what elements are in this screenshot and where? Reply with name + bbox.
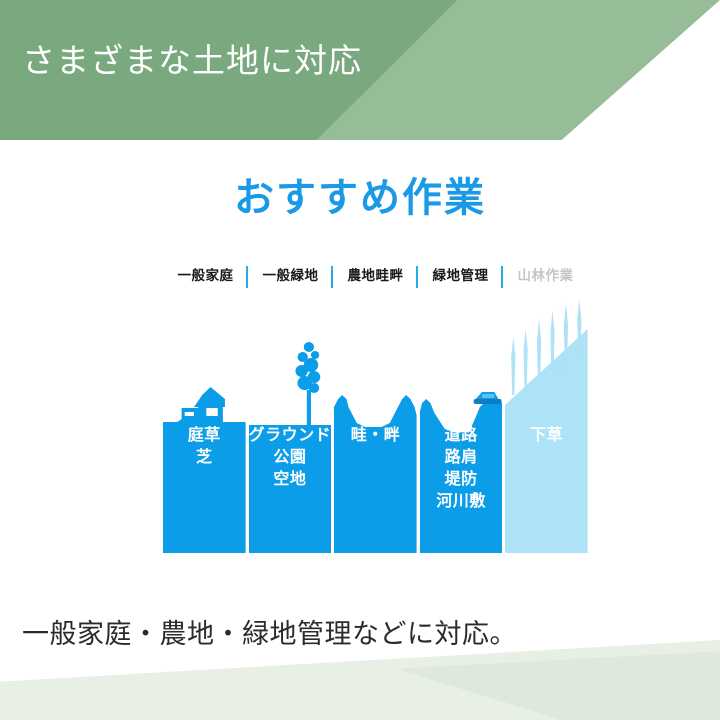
chart-column-greenspace-management: 道路 路肩 堤防 河川敷 [420,295,503,553]
column-header-farmland-ridge: 農地畦畔 [333,265,418,295]
recommended-work-chart: 一般家庭 一般緑地 農地畦畔 緑地管理 山林作業 [163,265,588,557]
column-header-label: 緑地管理 [433,268,489,283]
chart-column-farmland-ridge: 畦・畔 [334,295,417,553]
chart-column-forestry-work: 下草 [505,295,588,553]
column-header-greenspace-management: 緑地管理 [418,265,503,295]
tree-icon [249,295,332,553]
label-line: 河川敷 [420,491,503,513]
label-line: 庭草 [163,425,246,447]
label-line: 芝 [163,447,246,469]
footer-decor [0,640,720,720]
column-label-general-household: 庭草 芝 [163,425,246,469]
forest-icon [505,295,588,553]
column-header-general-household: 一般家庭 [163,265,248,295]
column-header-label: 山林作業 [518,268,574,283]
chart-title: おすすめ作業 [0,165,720,223]
column-label-forestry-work: 下草 [505,425,588,447]
column-label-farmland-ridge: 畦・畔 [334,425,417,447]
house-icon [163,295,246,553]
label-line: 空地 [249,469,332,491]
label-line: 堤防 [420,469,503,491]
header-banner: さまざまな土地に対応 [0,0,720,140]
column-header-label: 一般緑地 [263,268,319,283]
column-header-general-greenspace: 一般緑地 [248,265,333,295]
chart-columns: 庭草 芝 グラウンド 公園 空地 [163,295,588,553]
header-title: さまざまな土地に対応 [22,34,362,82]
column-header-label: 一般家庭 [178,268,234,283]
road-car-icon [420,295,503,553]
column-header-forestry-work: 山林作業 [503,265,588,295]
terraced-field-icon [334,295,417,553]
chart-column-general-greenspace: グラウンド 公園 空地 [249,295,332,553]
column-header-label: 農地畦畔 [348,268,404,283]
label-line: 畦・畔 [334,425,417,447]
label-line: 路肩 [420,447,503,469]
label-line: 下草 [505,425,588,447]
bottom-caption: 一般家庭・農地・緑地管理などに対応。 [22,612,517,651]
label-line: グラウンド [249,425,332,447]
column-label-greenspace-management: 道路 路肩 堤防 河川敷 [420,425,503,513]
chart-column-general-household: 庭草 芝 [163,295,246,553]
label-line: 公園 [249,447,332,469]
column-label-general-greenspace: グラウンド 公園 空地 [249,425,332,491]
label-line: 道路 [420,425,503,447]
chart-column-headers: 一般家庭 一般緑地 農地畦畔 緑地管理 山林作業 [163,265,588,295]
